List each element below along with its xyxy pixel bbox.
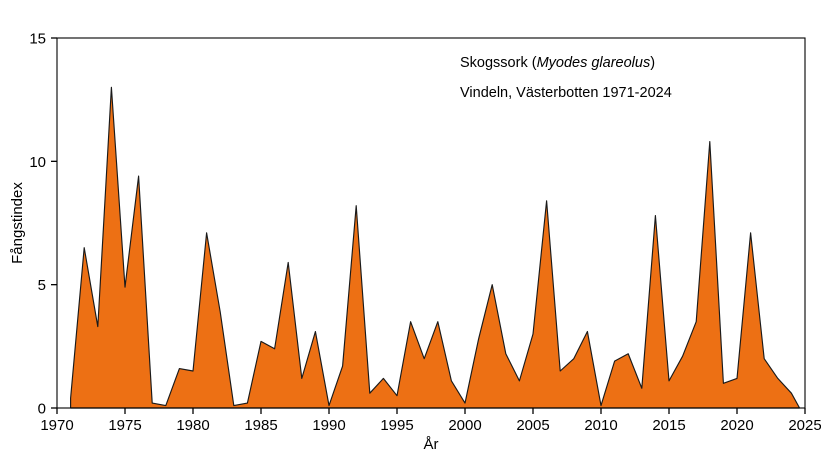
y-axis-tick-labels: 051015 (29, 31, 46, 418)
y-axis-title: Fångstindex (9, 182, 26, 264)
x-tick-label-1995: 1995 (380, 417, 413, 434)
y-tick-label-10: 10 (29, 154, 46, 171)
y-tick-label-15: 15 (29, 31, 46, 48)
x-tick-label-1980: 1980 (176, 417, 209, 434)
x-tick-label-2000: 2000 (448, 417, 481, 434)
annotation-location-period: Vindeln, Västerbotten 1971-2024 (460, 85, 672, 101)
annotation-species-prefix: Skogssork ( (460, 55, 537, 71)
x-axis-title: År (424, 436, 439, 453)
x-axis-tick-labels: 1970197519801985199019952000200520102015… (40, 417, 821, 434)
annotation-species: Skogssork (Myodes glareolus) (460, 55, 655, 71)
annotation-species-suffix: ) (650, 55, 655, 71)
x-tick-label-1985: 1985 (244, 417, 277, 434)
catch-index-area-chart: 1970197519801985199019952000200520102015… (0, 0, 821, 462)
y-tick-label-0: 0 (38, 401, 46, 418)
x-tick-label-2005: 2005 (516, 417, 549, 434)
x-tick-label-1970: 1970 (40, 417, 73, 434)
annotation-species-latin: Myodes glareolus (537, 55, 651, 71)
y-axis-ticks (51, 38, 57, 408)
x-tick-label-2010: 2010 (584, 417, 617, 434)
x-tick-label-2015: 2015 (652, 417, 685, 434)
chart-container: 1970197519801985199019952000200520102015… (0, 0, 821, 462)
y-tick-label-5: 5 (38, 277, 46, 294)
x-tick-label-2020: 2020 (720, 417, 753, 434)
x-tick-label-2025: 2025 (788, 417, 821, 434)
x-axis-ticks (57, 408, 805, 414)
x-tick-label-1990: 1990 (312, 417, 345, 434)
x-tick-label-1975: 1975 (108, 417, 141, 434)
